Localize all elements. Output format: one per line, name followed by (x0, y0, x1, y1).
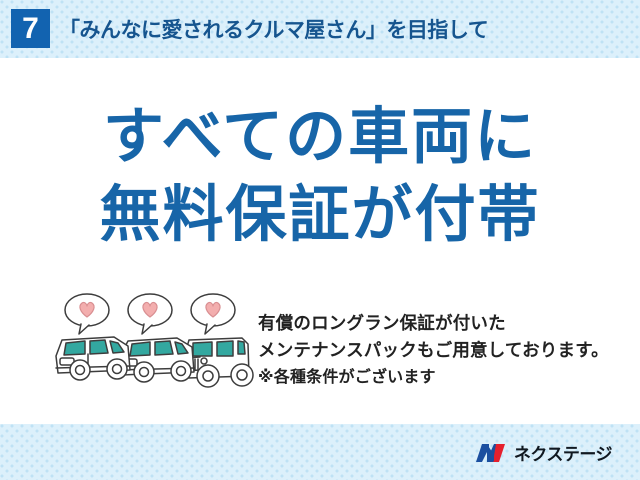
brand-logo-text: ネクステージ (514, 440, 612, 465)
car-minivan (120, 338, 194, 382)
nexstage-n-logo-icon (474, 441, 508, 465)
cars-illustration (52, 292, 257, 397)
brand-logo: ネクステージ (474, 440, 612, 465)
car-suv-jeep (185, 338, 253, 387)
body-copy-note: ※各種条件がございます (258, 364, 609, 391)
section-number-badge: 7 (11, 9, 50, 48)
heart-bubble-3 (191, 294, 235, 334)
body-copy: 有償のロングラン保証が付いた メンテナンスパックもご用意しております。 ※各種条… (258, 310, 609, 391)
car-kei-van (56, 337, 130, 380)
heart-bubble-2 (128, 294, 172, 334)
body-copy-line-1: 有償のロングラン保証が付いた (258, 310, 609, 337)
page-title: 「みんなに愛されるクルマ屋さん」を目指して (59, 14, 488, 44)
slide-root: 7 「みんなに愛されるクルマ屋さん」を目指して すべての車両に 無料保証が付帯 (0, 0, 640, 480)
body-copy-line-2: メンテナンスパックもご用意しております。 (258, 337, 609, 364)
cars-svg (52, 292, 257, 397)
heart-bubble-1 (65, 294, 109, 334)
headline-line-1: すべての車両に (0, 100, 640, 172)
headline-line-2: 無料保証が付帯 (0, 178, 640, 250)
